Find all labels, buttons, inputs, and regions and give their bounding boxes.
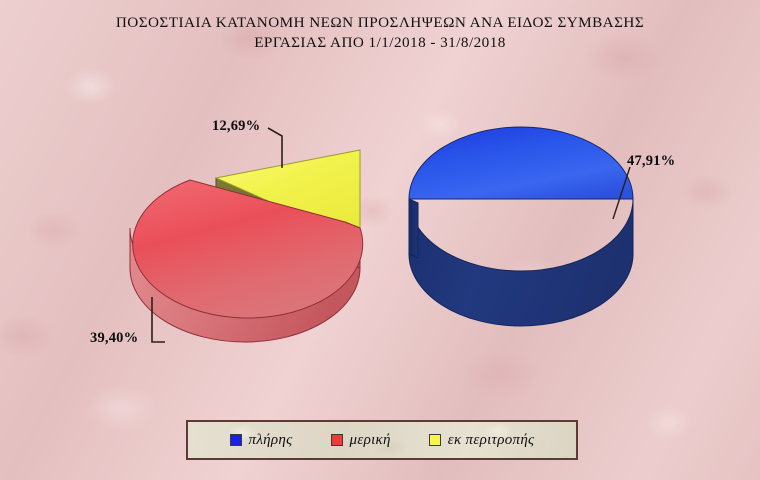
slice-label-red: 39,40% — [90, 330, 138, 347]
chart-canvas: ΠΟΣΟΣΤΙΑΙΑ ΚΑΤΑΝΟΜΗ ΝΕΩΝ ΠΡΟΣΛΗΨΕΩΝ ΑΝΑ … — [0, 0, 760, 480]
slice-label-yellow: 12,69% — [212, 118, 260, 135]
legend-swatch-yellow — [429, 434, 441, 446]
slice-label-blue: 47,91% — [627, 153, 675, 170]
pie-chart-graphic — [0, 0, 760, 480]
leader-line-yellow — [268, 128, 282, 168]
legend-label-plires: πλήρης — [249, 432, 293, 449]
legend-label-meriki: μερική — [350, 432, 391, 449]
chart-legend: πλήρης μερική εκ περιτροπής — [186, 420, 578, 460]
legend-item-plires[interactable]: πλήρης — [230, 432, 293, 449]
legend-label-ek-peritropis: εκ περιτροπής — [448, 432, 535, 449]
legend-swatch-red — [331, 434, 343, 446]
legend-swatch-blue — [230, 434, 242, 446]
pie-slice-blue — [409, 127, 633, 326]
legend-item-meriki[interactable]: μερική — [331, 432, 391, 449]
legend-item-ek-peritropis[interactable]: εκ περιτροπής — [429, 432, 535, 449]
